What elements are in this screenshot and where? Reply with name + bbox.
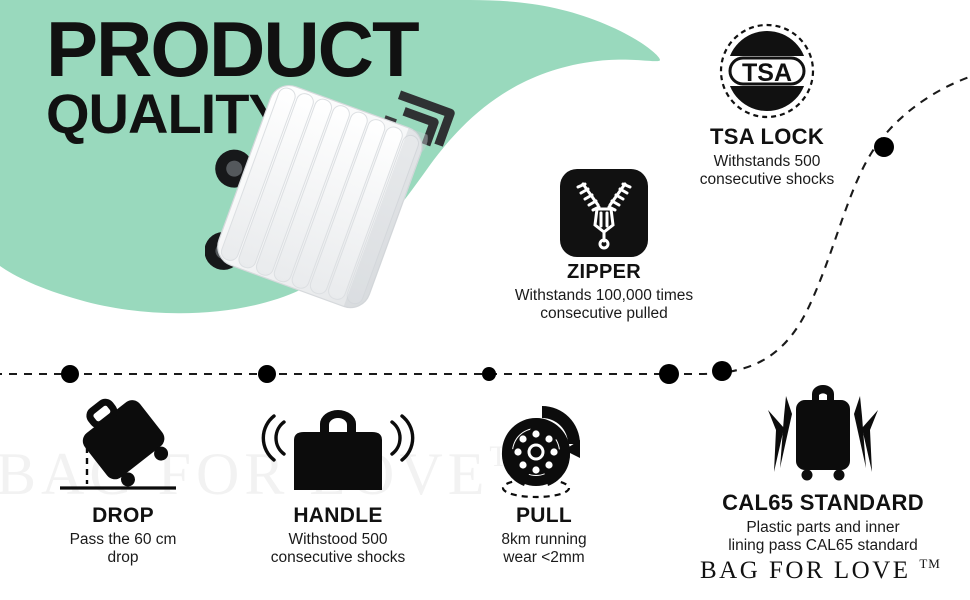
brand-label: BAG FOR LOVE bbox=[700, 557, 911, 584]
feature-title: HANDLE bbox=[232, 504, 444, 528]
feature-description: Withstood 500 consecutive shocks bbox=[232, 531, 444, 568]
drop-icon-wrap bbox=[30, 395, 216, 500]
brand-logo: BAG FOR LOVE TM bbox=[700, 556, 941, 585]
feature-description: Pass the 60 cm drop bbox=[30, 531, 216, 568]
brand-tm: TM bbox=[919, 556, 941, 571]
suitcase-impact-icon bbox=[738, 380, 908, 486]
tilted-suitcase bbox=[70, 396, 176, 494]
feature-desc-line2: consecutive shocks bbox=[232, 549, 444, 567]
feature-title: TSA LOCK bbox=[636, 124, 898, 150]
briefcase-body bbox=[294, 410, 382, 490]
falling-suitcase-icon bbox=[48, 396, 198, 500]
cal65-icon-wrap bbox=[676, 378, 970, 486]
wheel-center bbox=[529, 445, 543, 459]
feature-cal65: CAL65 STANDARD Plastic parts and inner l… bbox=[676, 378, 970, 556]
suitcase-group bbox=[205, 75, 450, 320]
handle-icon-wrap bbox=[232, 398, 444, 500]
briefcase-handle-icon bbox=[258, 400, 418, 500]
feature-desc-line2: lining pass CAL65 standard bbox=[676, 537, 970, 555]
feature-desc-line1: Withstood 500 bbox=[232, 531, 444, 549]
feature-title: ZIPPER bbox=[470, 261, 738, 284]
feature-description: 8km running wear <2mm bbox=[458, 531, 630, 568]
feature-zipper: ZIPPER Withstands 100,000 times consecut… bbox=[470, 165, 738, 324]
upright-suitcase bbox=[796, 385, 850, 481]
feature-desc-line1: 8km running bbox=[458, 531, 630, 549]
connector-node bbox=[482, 367, 496, 381]
pull-icon-wrap bbox=[458, 398, 630, 500]
feature-title: DROP bbox=[30, 504, 216, 528]
feature-desc-line2: consecutive pulled bbox=[470, 305, 738, 323]
feature-drop: DROP Pass the 60 cm drop bbox=[30, 395, 216, 568]
connector-node bbox=[61, 365, 79, 383]
feature-desc-line2: drop bbox=[30, 549, 216, 567]
infographic-canvas: BAG FOR LOVETM PRODUCT QUALITY bbox=[0, 0, 970, 600]
feature-title: PULL bbox=[458, 504, 630, 528]
feature-title: CAL65 STANDARD bbox=[676, 490, 970, 516]
feature-description: Withstands 100,000 times consecutive pul… bbox=[470, 287, 738, 324]
hero-suitcase-image bbox=[205, 75, 455, 320]
feature-desc-line1: Withstands 100,000 times bbox=[470, 287, 738, 305]
feature-desc-line1: Plastic parts and inner bbox=[676, 519, 970, 537]
zipper-icon bbox=[560, 169, 648, 257]
tsa-lock-icon: TSA bbox=[718, 22, 816, 120]
connector-node bbox=[258, 365, 276, 383]
feature-handle: HANDLE Withstood 500 consecutive shocks bbox=[232, 398, 444, 568]
feature-pull: PULL 8km running wear <2mm bbox=[458, 398, 630, 568]
zipper-icon-wrap bbox=[470, 165, 738, 257]
tsa-badge-text: TSA bbox=[742, 59, 792, 87]
feature-description: Plastic parts and inner lining pass CAL6… bbox=[676, 519, 970, 556]
tsa-lock-icon-wrap: TSA bbox=[636, 22, 898, 120]
feature-desc-line2: wear <2mm bbox=[458, 549, 630, 567]
spinner-wheel-icon bbox=[484, 400, 604, 500]
feature-desc-line1: Pass the 60 cm bbox=[30, 531, 216, 549]
